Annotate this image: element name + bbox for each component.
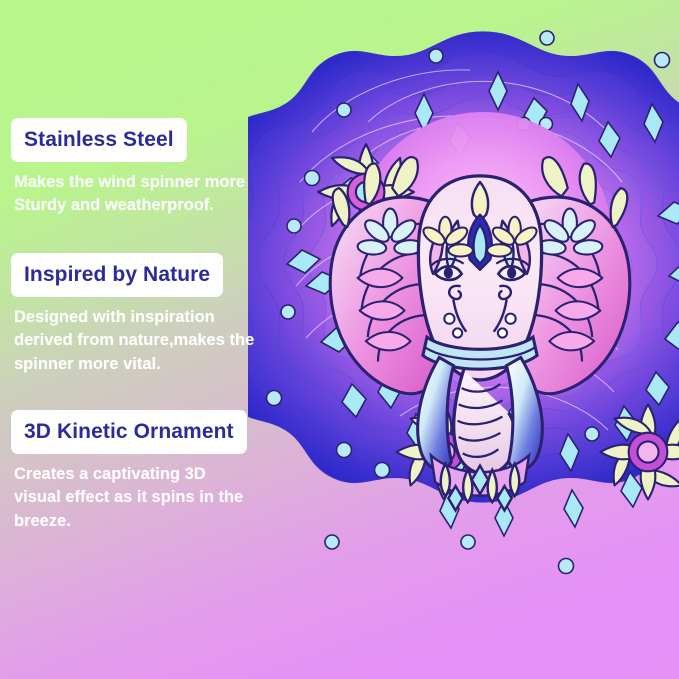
- elephant-ear-left: [330, 157, 445, 394]
- elephant-headband: [423, 337, 537, 369]
- elephant-eye-right: [496, 259, 529, 280]
- spinner-circle-cutouts: [267, 31, 679, 574]
- spinner-diamond-cutouts: [287, 72, 679, 536]
- feature-block-inspired-by-nature: Inspired by Nature Designed with inspira…: [0, 253, 300, 376]
- elephant-eye-left: [431, 259, 464, 280]
- wind-spinner-illustration: [248, 0, 679, 620]
- feature-title-badge: 3D Kinetic Ornament: [11, 410, 247, 454]
- mandala-flower-bottom: [396, 404, 491, 499]
- elephant-tusk-left: [418, 357, 454, 469]
- feature-description: Designed with inspiration derived from n…: [14, 306, 300, 376]
- elephant-ear-right: [515, 157, 630, 394]
- feature-title-badge: Inspired by Nature: [11, 253, 223, 297]
- spinner-rings: [248, 32, 679, 502]
- feature-block-3d-kinetic-ornament: 3D Kinetic Ornament Creates a captivatin…: [0, 410, 300, 533]
- forehead-rosette-left: [421, 217, 473, 257]
- elephant-trunk: [454, 370, 516, 474]
- feature-block-stainless-steel: Stainless Steel Makes the wind spinner m…: [0, 118, 300, 218]
- elephant-face: [418, 176, 541, 380]
- mandala-elephant-head: [330, 157, 630, 510]
- feature-title-badge: Stainless Steel: [11, 118, 187, 162]
- spinner-mandala-core: [353, 112, 613, 372]
- mandala-flower-right: [600, 404, 679, 499]
- feature-description: Creates a captivating 3D visual effect a…: [14, 463, 300, 533]
- forehead-rosette-right: [487, 217, 539, 257]
- product-feature-image: Stainless Steel Makes the wind spinner m…: [0, 0, 679, 679]
- elephant-lower-ornament: [431, 455, 529, 510]
- elephant-tusk-right: [507, 357, 543, 469]
- mandala-flower-left: [318, 144, 414, 240]
- feature-description: Makes the wind spinner more Sturdy and w…: [14, 171, 300, 218]
